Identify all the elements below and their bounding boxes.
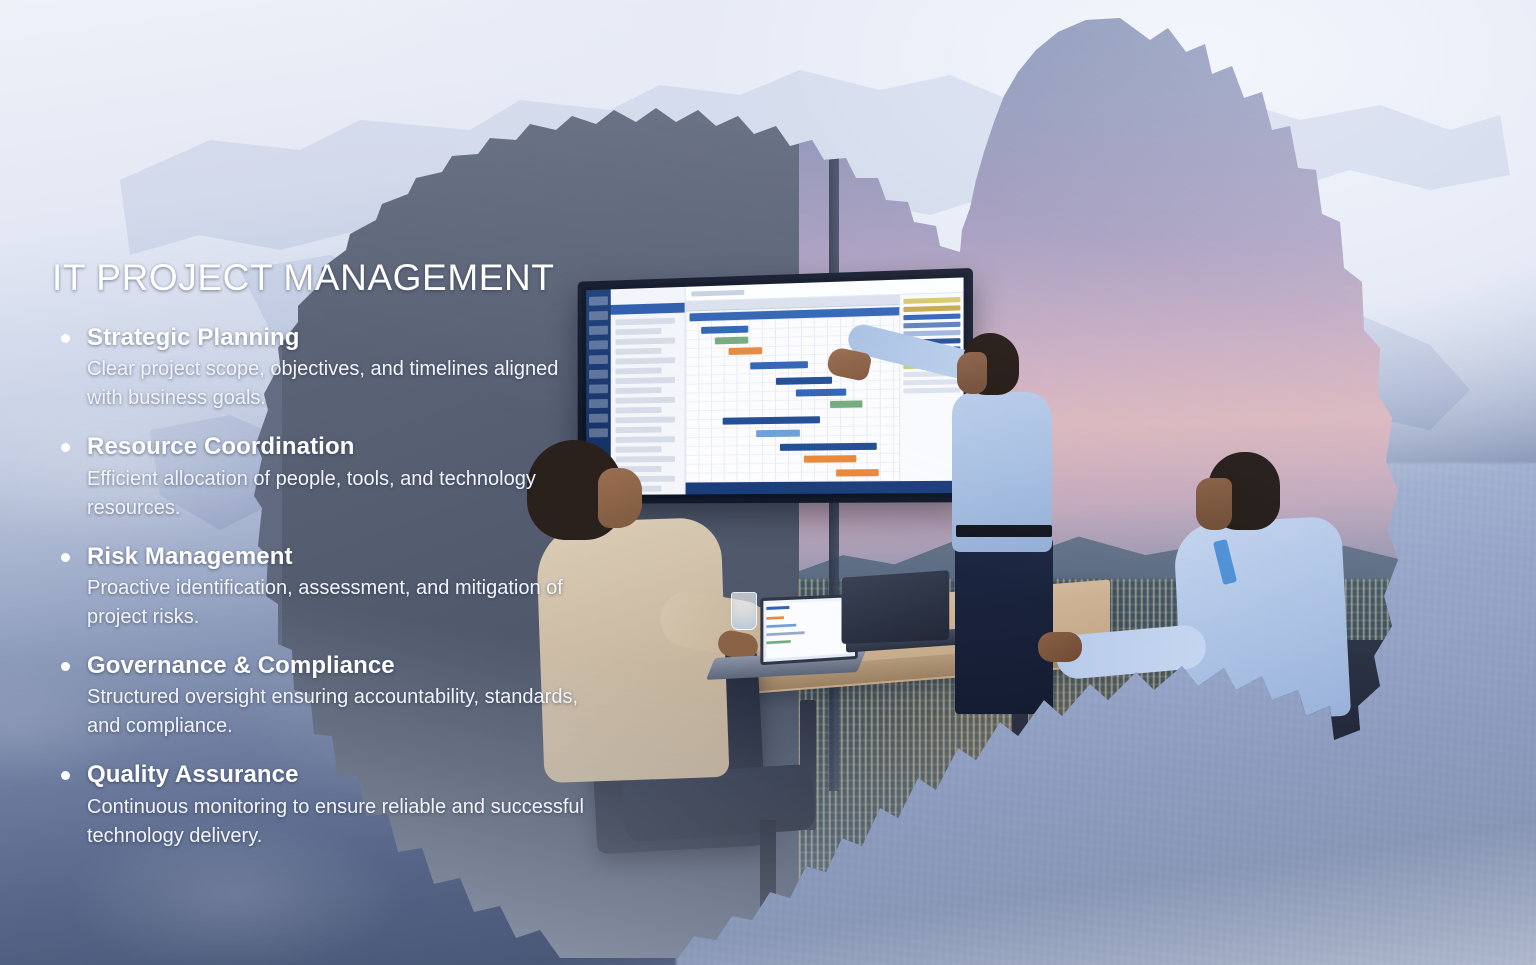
bullet-heading: Resource Coordination (87, 433, 612, 461)
bullet-dot-icon (61, 771, 70, 780)
bullet-dot-icon (61, 662, 70, 671)
bullet-dot-icon (61, 443, 70, 452)
bullet-body: Clear project scope, objectives, and tim… (87, 355, 597, 413)
bullet-heading: Strategic Planning (87, 324, 612, 352)
bullet-heading: Quality Assurance (87, 761, 612, 789)
slide-canvas: IT PROJECT MANAGEMENT Strategic Planning… (0, 0, 1536, 965)
bullet-body: Structured oversight ensuring accountabi… (87, 683, 597, 741)
list-item: Risk Management Proactive identification… (52, 543, 612, 632)
bullet-heading: Risk Management (87, 543, 612, 571)
bullet-dot-icon (61, 334, 70, 343)
content-panel: IT PROJECT MANAGEMENT Strategic Planning… (52, 258, 612, 851)
list-item: Resource Coordination Efficient allocati… (52, 433, 612, 522)
bullet-body: Proactive identification, assessment, an… (87, 574, 597, 632)
list-item: Strategic Planning Clear project scope, … (52, 324, 612, 413)
bullet-dot-icon (61, 553, 70, 562)
bullet-body: Continuous monitoring to ensure reliable… (87, 793, 597, 851)
bullet-body: Efficient allocation of people, tools, a… (87, 465, 597, 523)
bullet-heading: Governance & Compliance (87, 652, 612, 680)
page-title: IT PROJECT MANAGEMENT (52, 258, 612, 298)
list-item: Quality Assurance Continuous monitoring … (52, 761, 612, 850)
list-item: Governance & Compliance Structured overs… (52, 652, 612, 741)
